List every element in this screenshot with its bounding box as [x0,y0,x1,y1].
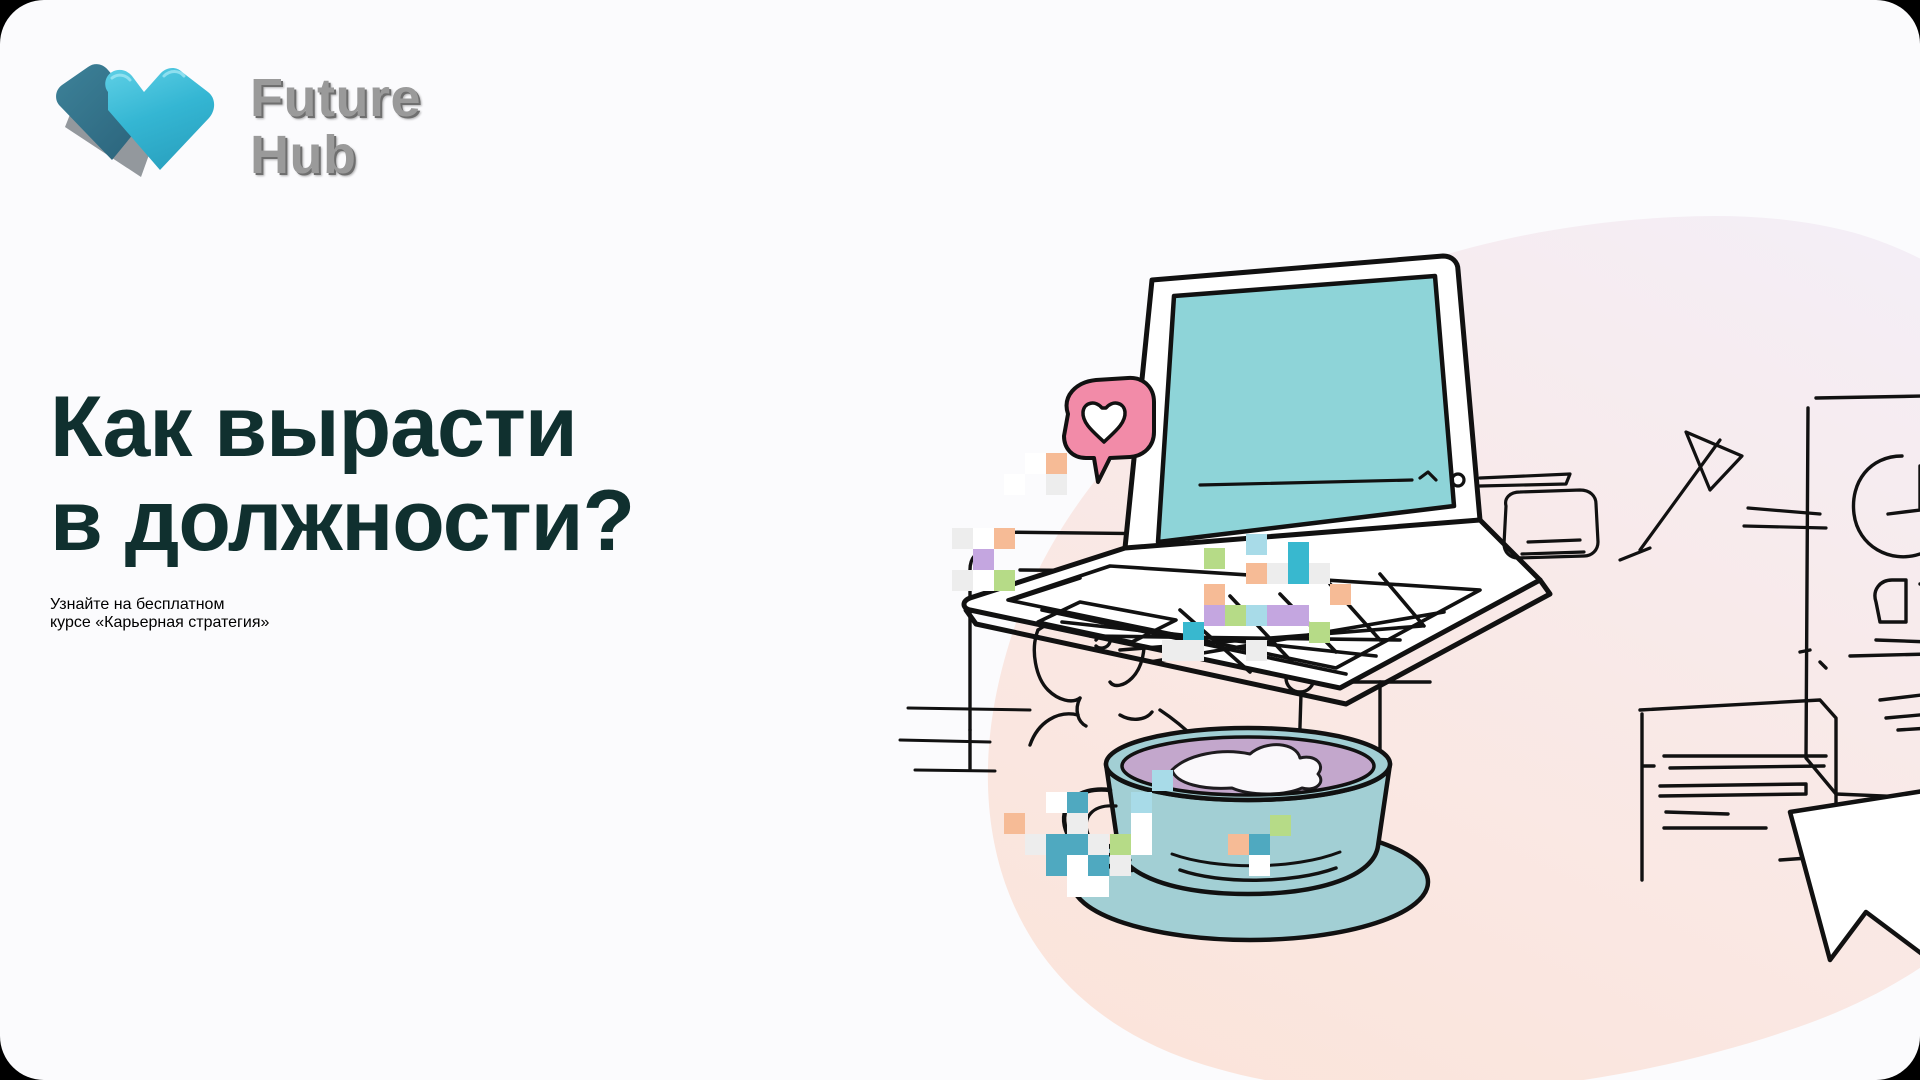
confetti-pixel [1046,792,1067,813]
brand-wordmark-line2: Hub [250,127,421,184]
confetti-pixel [973,570,994,591]
confetti-pixel [1046,834,1067,855]
confetti-pixel [1246,640,1267,661]
brand-wordmark-line1: Future [250,70,421,127]
promo-banner: Future Hub Как вырасти в должности? Узна… [0,0,1920,1080]
confetti-pixel [952,528,973,549]
subhead-line-1: Узнайте на бесплатном [50,596,930,614]
future-hub-mark-icon [48,62,224,177]
confetti-pixel [1249,834,1270,855]
confetti-pixel [1046,855,1067,876]
confetti-pixel [1309,563,1330,584]
confetti-pixel [1025,453,1046,474]
confetti-pixel [1204,548,1225,569]
confetti-pixel [1004,474,1025,495]
confetti-pixel [1330,584,1351,605]
confetti-pixel [1162,640,1183,661]
confetti-pixel [973,549,994,570]
confetti-pixel [1204,605,1225,626]
headline-line-2: в должности? [50,474,930,568]
confetti-pixel [1131,834,1152,855]
confetti-pixel [1067,876,1088,897]
confetti-pixel [1288,563,1309,584]
confetti-pixel [1004,813,1025,834]
brand-wordmark: Future Hub [250,70,421,184]
confetti-pixel [994,570,1015,591]
confetti-pixel [1246,563,1267,584]
confetti-pixel [1046,474,1067,495]
confetti-pixel [1228,834,1249,855]
page-title: Как вырасти в должности? [50,380,930,568]
confetti-pixel [1025,834,1046,855]
confetti-pixel [973,528,994,549]
confetti-pixel [1088,855,1109,876]
confetti-pixel [1152,770,1173,791]
confetti-pixel [1067,813,1088,834]
confetti-pixel [1246,534,1267,555]
confetti-pixel [1067,855,1088,876]
subhead-line-2: курсе «Карьерная стратегия» [50,614,930,632]
confetti-pixel [1270,815,1291,836]
confetti-pixel [994,528,1015,549]
confetti-pixel [1088,876,1109,897]
confetti-pixel [1131,792,1152,813]
pixel-confetti [780,170,1920,970]
confetti-pixel [1088,834,1109,855]
confetti-pixel [1267,605,1288,626]
confetti-pixel [1067,792,1088,813]
brand-logo[interactable]: Future Hub [48,62,421,184]
confetti-pixel [952,570,973,591]
confetti-pixel [1131,813,1152,834]
confetti-pixel [1246,605,1267,626]
confetti-pixel [1288,542,1309,563]
confetti-pixel [1267,563,1288,584]
confetti-pixel [1110,855,1131,876]
confetti-pixel [1288,605,1309,626]
confetti-pixel [1110,834,1131,855]
confetti-pixel [1183,640,1204,661]
confetti-pixel [1204,584,1225,605]
confetti-pixel [1249,855,1270,876]
confetti-pixel [1309,622,1330,643]
confetti-pixel [1046,453,1067,474]
confetti-pixel [1225,605,1246,626]
confetti-pixel [1067,834,1088,855]
headline-line-1: Как вырасти [50,380,930,474]
promo-copy: Как вырасти в должности? Узнайте на бесп… [50,380,930,648]
